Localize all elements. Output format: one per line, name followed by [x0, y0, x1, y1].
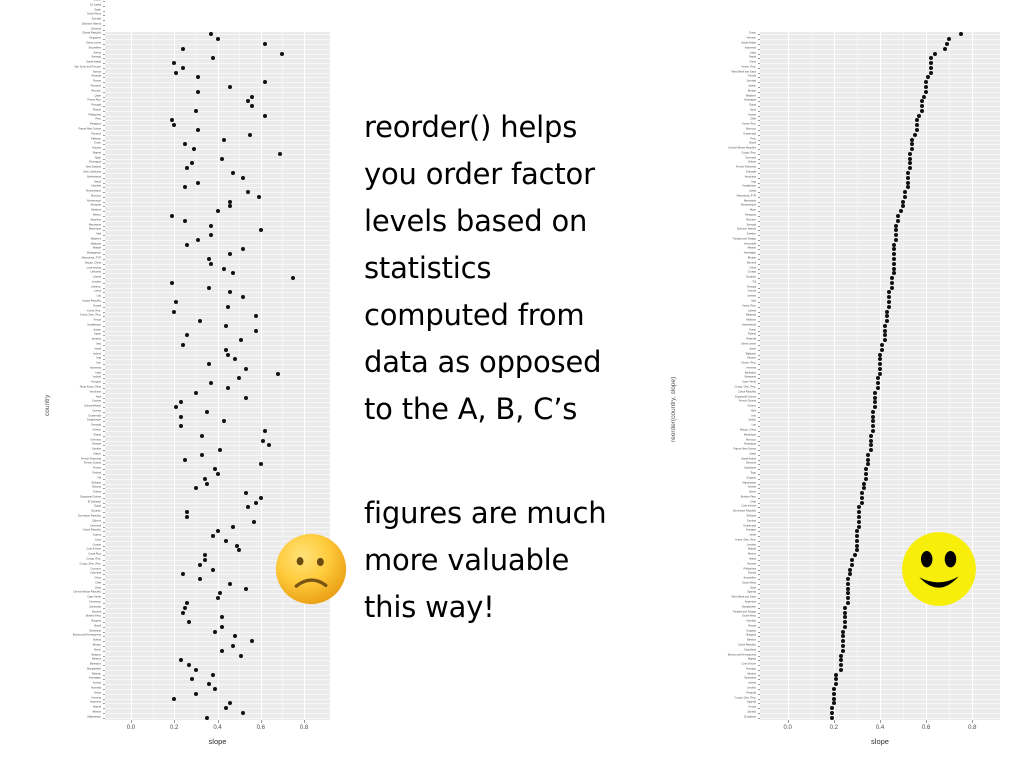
data-point	[185, 510, 189, 514]
data-point	[910, 138, 914, 142]
y-tick-mark	[103, 245, 105, 246]
left-chart-y-tick-labels: AfghanistanAlbaniaAlgeriaArgentinaArmeni…	[14, 32, 101, 720]
data-point	[231, 171, 235, 175]
y-tick-label: Samoa	[93, 71, 101, 74]
y-tick-mark	[758, 125, 760, 126]
y-tick-mark	[103, 493, 105, 494]
data-point	[896, 214, 900, 218]
y-tick-mark	[758, 168, 760, 169]
y-tick-mark	[103, 130, 105, 131]
y-tick-label: Seychelles	[88, 47, 101, 50]
y-tick-mark	[103, 441, 105, 442]
y-tick-label: Morocco	[746, 439, 756, 442]
data-point	[892, 271, 896, 275]
y-tick-mark	[758, 378, 760, 379]
y-tick-mark	[103, 15, 105, 16]
y-tick-mark	[758, 44, 760, 45]
y-tick-label: Argentina	[745, 602, 756, 605]
data-point	[894, 224, 898, 228]
data-point	[860, 501, 864, 505]
data-point	[183, 185, 187, 189]
data-point	[203, 553, 207, 557]
data-point	[181, 47, 185, 51]
data-point	[843, 625, 847, 629]
data-point	[205, 410, 209, 414]
y-tick-label: Russia	[748, 573, 756, 576]
y-tick-label: Luxembourg	[87, 267, 101, 270]
y-tick-label: Poland	[748, 334, 756, 337]
y-tick-label: Syria	[750, 587, 756, 590]
data-point	[207, 682, 211, 686]
data-point	[846, 587, 850, 591]
y-tick-label: Fiji	[753, 282, 756, 285]
y-tick-label: Congo, Dem. Rep.	[735, 387, 756, 390]
data-point	[848, 572, 852, 576]
y-tick-label: Solomon Islands	[82, 24, 101, 27]
data-point	[848, 568, 852, 572]
data-point	[871, 410, 875, 414]
y-tick-label: Egypt	[94, 506, 101, 509]
y-tick-mark	[103, 402, 105, 403]
y-tick-mark	[758, 584, 760, 585]
data-point	[259, 462, 263, 466]
data-point	[190, 677, 194, 681]
data-point	[846, 582, 850, 586]
sad-face-emoji	[272, 530, 350, 608]
data-point	[841, 639, 845, 643]
data-point	[864, 467, 868, 471]
y-tick-label: Equatorial Guinea	[735, 396, 756, 399]
y-tick-mark	[758, 326, 760, 327]
y-tick-label: Haiti	[96, 396, 101, 399]
y-tick-mark	[103, 307, 105, 308]
data-point	[172, 123, 176, 127]
y-tick-mark	[758, 92, 760, 93]
data-point	[218, 448, 222, 452]
data-point	[216, 472, 220, 476]
y-tick-label: Sri Lanka	[90, 4, 101, 7]
y-tick-mark	[758, 507, 760, 508]
y-tick-mark	[103, 192, 105, 193]
data-point	[254, 329, 258, 333]
data-point	[181, 611, 185, 615]
y-tick-mark	[758, 197, 760, 198]
y-tick-label: Germany	[90, 439, 101, 442]
y-tick-mark	[758, 665, 760, 666]
y-tick-mark	[758, 97, 760, 98]
data-point	[209, 32, 213, 36]
data-point	[252, 520, 256, 524]
x-tick-mark	[131, 720, 132, 723]
data-point	[841, 630, 845, 634]
y-tick-mark	[758, 264, 760, 265]
y-tick-label: Malawi	[748, 549, 756, 552]
data-point	[878, 372, 882, 376]
y-tick-label: Russia	[748, 626, 756, 629]
data-point	[263, 429, 267, 433]
y-tick-mark	[103, 235, 105, 236]
y-tick-mark	[758, 130, 760, 131]
data-point	[224, 348, 228, 352]
gridline-vertical	[261, 32, 262, 720]
data-point	[211, 534, 215, 538]
gridline-vertical	[926, 32, 927, 720]
data-point	[830, 711, 834, 715]
y-tick-mark	[103, 92, 105, 93]
y-tick-mark	[103, 340, 105, 341]
y-tick-mark	[758, 441, 760, 442]
data-point	[209, 262, 213, 266]
y-tick-mark	[103, 106, 105, 107]
data-point	[187, 663, 191, 667]
y-tick-label: Jordan	[93, 329, 101, 332]
data-point	[887, 290, 891, 294]
data-point	[239, 654, 243, 658]
data-point	[853, 553, 857, 557]
y-tick-label: Albania	[92, 712, 101, 715]
y-tick-label: Bhutan	[93, 645, 101, 648]
y-tick-label: Indonesia	[745, 47, 756, 50]
y-tick-mark	[103, 636, 105, 637]
y-tick-label: Macao, China	[85, 262, 101, 265]
y-tick-mark	[758, 536, 760, 537]
y-tick-label: Mozambique	[741, 205, 756, 208]
data-point	[203, 558, 207, 562]
data-point	[179, 415, 183, 419]
y-tick-mark	[758, 713, 760, 714]
y-tick-label: Cyprus	[93, 535, 101, 538]
data-point	[857, 505, 861, 509]
left-chart-x-axis-title: slope	[105, 737, 330, 746]
data-point	[887, 300, 891, 304]
y-tick-label: Chad	[95, 587, 101, 590]
data-point	[181, 66, 185, 70]
y-tick-label: Norway	[747, 563, 756, 566]
y-tick-label: Nepal	[94, 181, 101, 184]
data-point	[894, 238, 898, 242]
data-point	[892, 243, 896, 247]
y-tick-label: Guinea	[93, 411, 101, 414]
y-tick-mark	[758, 173, 760, 174]
data-point	[855, 548, 859, 552]
data-point	[869, 434, 873, 438]
data-point	[200, 434, 204, 438]
y-tick-label: Barbados	[90, 664, 101, 667]
y-tick-mark	[103, 598, 105, 599]
data-point	[241, 176, 245, 180]
data-point	[263, 80, 267, 84]
y-tick-label: Yemen, Rep.	[741, 363, 756, 366]
y-tick-mark	[758, 565, 760, 566]
y-tick-label: Ecuador	[746, 277, 756, 280]
y-tick-mark	[758, 393, 760, 394]
y-tick-label: Dominican Republic	[733, 511, 756, 514]
y-tick-label: Slovenia	[746, 463, 756, 466]
y-tick-label: Ethiopia	[747, 516, 756, 519]
y-tick-label: Papua New Guinea	[79, 129, 102, 132]
data-point	[906, 181, 910, 185]
data-point	[254, 501, 258, 505]
data-point	[899, 209, 903, 213]
y-tick-label: South Africa	[87, 14, 101, 17]
y-tick-mark	[758, 608, 760, 609]
y-tick-label: Reunion	[91, 90, 101, 93]
y-tick-mark	[758, 111, 760, 112]
data-point	[209, 224, 213, 228]
data-point	[209, 381, 213, 385]
data-point	[862, 482, 866, 486]
y-tick-label: French Guiana	[739, 401, 756, 404]
y-tick-label: Burkina Faso	[741, 497, 756, 500]
y-tick-mark	[103, 302, 105, 303]
y-tick-mark	[758, 278, 760, 279]
y-tick-mark	[758, 331, 760, 332]
y-tick-label: Chile	[95, 583, 101, 586]
data-point	[196, 181, 200, 185]
y-tick-label: Congo, Rep.	[741, 153, 756, 156]
y-tick-mark	[103, 183, 105, 184]
y-tick-mark	[758, 589, 760, 590]
y-tick-mark	[758, 488, 760, 489]
y-tick-label: Cambodia	[89, 606, 101, 609]
y-tick-label: Iraq	[752, 181, 756, 184]
y-tick-mark	[103, 684, 105, 685]
data-point	[233, 357, 237, 361]
y-tick-mark	[103, 646, 105, 647]
y-tick-label: Grenada	[91, 425, 101, 428]
y-tick-label: Oman	[94, 143, 101, 146]
y-tick-label: Nigeria	[748, 659, 756, 662]
y-tick-label: Yemen, Rep.	[741, 67, 756, 70]
y-tick-label: Reunion	[746, 219, 756, 222]
data-point	[254, 314, 258, 318]
y-tick-mark	[758, 431, 760, 432]
y-tick-mark	[103, 125, 105, 126]
y-tick-mark	[758, 63, 760, 64]
y-tick-mark	[103, 460, 105, 461]
y-tick-label: Morocco	[91, 196, 101, 199]
data-point	[920, 109, 924, 113]
y-tick-label: Austria	[748, 487, 756, 490]
y-tick-mark	[758, 374, 760, 375]
y-tick-mark	[103, 689, 105, 690]
y-tick-mark	[103, 431, 105, 432]
data-point	[915, 128, 919, 132]
y-tick-mark	[103, 316, 105, 317]
y-tick-label: Nicaragua	[744, 444, 756, 447]
data-point	[261, 439, 265, 443]
y-tick-mark	[758, 479, 760, 480]
y-tick-label: Poland	[93, 110, 101, 113]
y-tick-mark	[103, 249, 105, 250]
y-tick-mark	[758, 383, 760, 384]
data-point	[876, 381, 880, 385]
data-point	[873, 405, 877, 409]
data-point	[248, 133, 252, 137]
y-tick-label: Kyrgyz Republic	[82, 301, 101, 304]
data-point	[209, 233, 213, 237]
y-tick-mark	[103, 393, 105, 394]
y-tick-label: Sao Tome and Principe	[74, 67, 101, 70]
y-tick-label: Greece	[92, 430, 101, 433]
x-tick-label: 0.8	[968, 725, 976, 731]
y-tick-label: Burundi	[747, 262, 756, 265]
y-tick-mark	[103, 498, 105, 499]
y-tick-label: Australia	[91, 688, 101, 691]
y-tick-mark	[758, 570, 760, 571]
right-chart-plot-panel	[760, 32, 1000, 720]
y-tick-mark	[103, 82, 105, 83]
data-point	[244, 367, 248, 371]
data-point	[896, 219, 900, 223]
y-tick-label: China	[749, 62, 756, 65]
data-point	[892, 247, 896, 251]
y-tick-label: Japan	[94, 334, 101, 337]
y-tick-mark	[758, 627, 760, 628]
data-point	[246, 99, 250, 103]
data-point	[871, 424, 875, 428]
y-tick-label: Saudi Arabia	[741, 458, 756, 461]
y-tick-label: Afghanistan	[742, 482, 756, 485]
explanation-primary-line-0: reorder() helps	[364, 104, 601, 151]
data-point	[194, 391, 198, 395]
y-tick-label: Barbados	[745, 372, 756, 375]
y-tick-mark	[758, 651, 760, 652]
y-tick-mark	[103, 312, 105, 313]
y-tick-mark	[758, 460, 760, 461]
y-tick-label: Ukraine	[747, 673, 756, 676]
y-tick-mark	[103, 297, 105, 298]
data-point	[917, 114, 921, 118]
y-tick-label: Guatemala	[743, 525, 756, 528]
data-point	[871, 415, 875, 419]
data-point	[910, 147, 914, 151]
y-tick-label: Israel	[750, 535, 756, 538]
explanation-primary-line-6: to the A, B, C’s	[364, 386, 601, 433]
data-point	[235, 544, 239, 548]
y-tick-mark	[758, 216, 760, 217]
y-tick-mark	[758, 522, 760, 523]
data-point	[894, 228, 898, 232]
data-point	[929, 66, 933, 70]
y-tick-label: Martinique	[744, 434, 756, 437]
y-tick-mark	[758, 527, 760, 528]
y-tick-mark	[103, 512, 105, 513]
y-tick-label: Bosnia and Herzegovina	[73, 635, 101, 638]
y-tick-label: Croatia	[93, 544, 101, 547]
y-tick-mark	[103, 350, 105, 351]
data-point	[198, 563, 202, 567]
y-tick-label: Chile	[750, 119, 756, 122]
y-tick-label: Liberia	[748, 683, 756, 686]
data-point	[892, 257, 896, 261]
y-tick-mark	[103, 288, 105, 289]
y-tick-mark	[758, 321, 760, 322]
y-tick-label: Algeria	[93, 707, 101, 710]
y-tick-mark	[758, 718, 760, 719]
y-tick-mark	[758, 187, 760, 188]
x-tick-mark	[926, 720, 927, 723]
data-point	[181, 343, 185, 347]
data-point	[237, 548, 241, 552]
data-point	[250, 95, 254, 99]
data-point	[226, 386, 230, 390]
y-tick-label: Netherlands	[87, 176, 101, 179]
data-point	[878, 357, 882, 361]
y-tick-label: France	[93, 468, 101, 471]
y-tick-mark	[758, 249, 760, 250]
y-tick-mark	[758, 426, 760, 427]
explanation-secondary-line-0: figures are much	[364, 490, 606, 537]
y-tick-mark	[758, 398, 760, 399]
y-tick-label: Georgia	[92, 444, 101, 447]
y-tick-mark	[758, 412, 760, 413]
y-tick-label: Azerbaijan	[89, 678, 101, 681]
x-tick-label: 0.2	[170, 725, 178, 731]
y-tick-mark	[103, 326, 105, 327]
y-tick-label: Egypt	[749, 105, 756, 108]
y-tick-mark	[103, 159, 105, 160]
y-tick-label: Martinique	[89, 229, 101, 232]
data-point	[885, 314, 889, 318]
y-tick-label: Iceland	[93, 377, 101, 380]
y-tick-mark	[103, 374, 105, 375]
data-point	[855, 534, 859, 538]
data-point	[172, 697, 176, 701]
y-tick-label: Honduras	[745, 176, 756, 179]
y-tick-label: Grenada	[746, 172, 756, 175]
y-tick-mark	[758, 316, 760, 317]
y-tick-label: Dominican Republic	[78, 516, 101, 519]
data-point	[220, 649, 224, 653]
y-tick-label: Austria	[93, 683, 101, 686]
data-point	[213, 687, 217, 691]
y-tick-label: Aruba	[94, 692, 101, 695]
y-tick-mark	[758, 288, 760, 289]
y-tick-label: Malaysia	[746, 315, 756, 318]
data-point	[846, 577, 850, 581]
y-tick-mark	[103, 321, 105, 322]
data-point	[263, 42, 267, 46]
y-tick-label: French Polynesia	[736, 167, 756, 170]
y-tick-label: Somalia	[92, 19, 101, 22]
y-tick-mark	[758, 312, 760, 313]
y-tick-label: Fiji	[98, 477, 101, 480]
y-tick-mark	[758, 211, 760, 212]
y-tick-label: Eritrea	[93, 492, 101, 495]
y-tick-mark	[103, 417, 105, 418]
y-tick-mark	[103, 216, 105, 217]
explanation-primary-line-5: data as opposed	[364, 339, 601, 386]
data-point	[841, 634, 845, 638]
y-tick-label: Korea, Dem. Rep.	[80, 315, 101, 318]
y-tick-mark	[758, 656, 760, 657]
data-point	[892, 252, 896, 256]
x-tick-mark	[972, 720, 973, 723]
explanation-primary-line-1: you order factor	[364, 151, 601, 198]
y-tick-label: Costa Rica	[88, 554, 101, 557]
y-tick-mark	[103, 30, 105, 31]
y-tick-mark	[103, 120, 105, 121]
y-tick-label: Equatorial Guinea	[80, 497, 101, 500]
data-point	[924, 80, 928, 84]
data-point	[181, 572, 185, 576]
data-point	[924, 90, 928, 94]
x-tick-label: 0.6	[922, 725, 930, 731]
y-tick-mark	[758, 154, 760, 155]
y-tick-mark	[103, 135, 105, 136]
gridline-vertical	[218, 32, 219, 720]
